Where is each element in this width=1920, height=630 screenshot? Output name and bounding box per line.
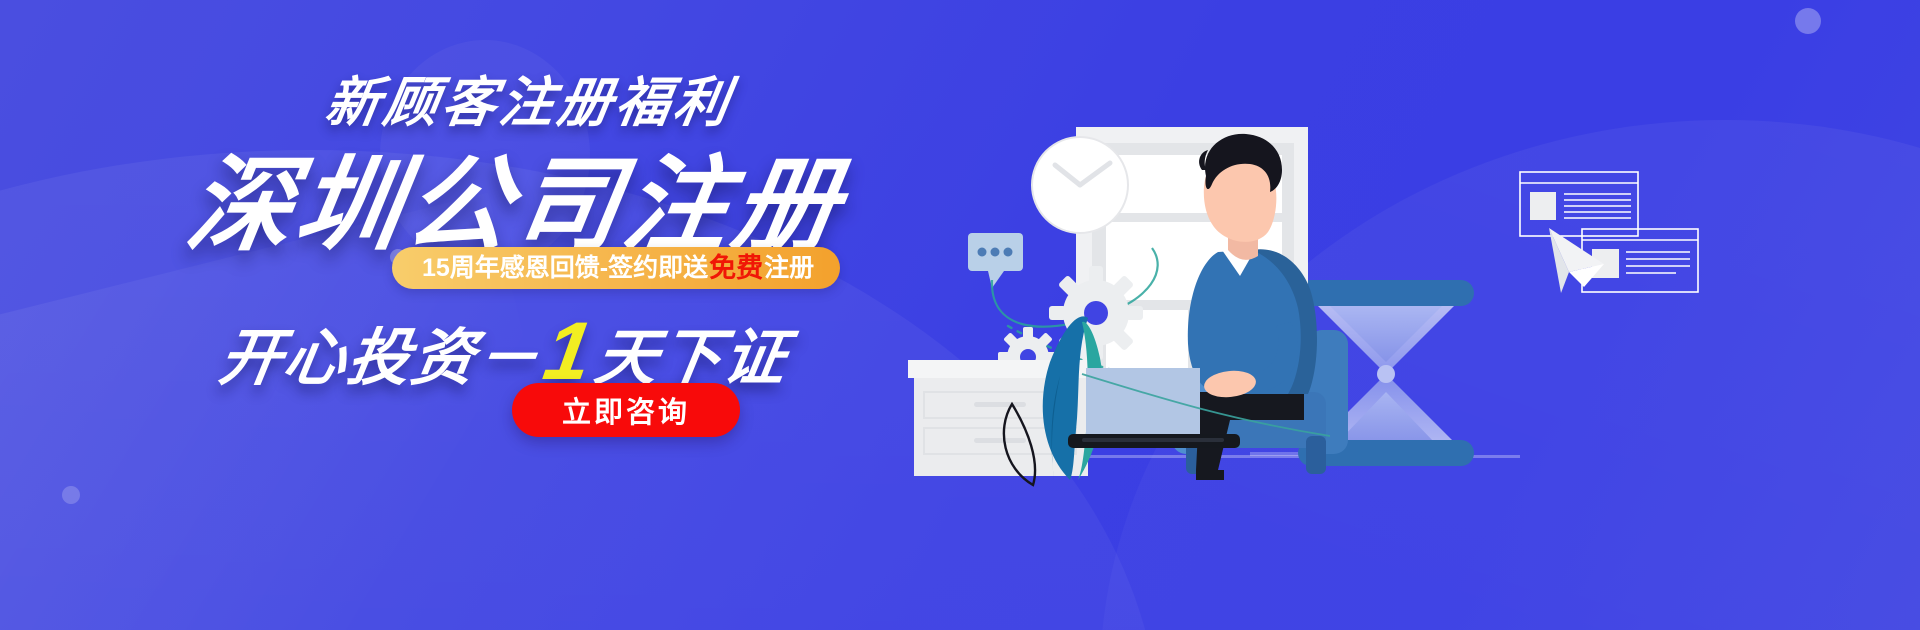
paper-plane-icon [1549, 228, 1604, 293]
promo-pill-suffix: 注册 [764, 256, 814, 281]
tagline-prefix: 开心投资－ [215, 324, 546, 393]
promo-pill-highlight: 免费 [708, 255, 764, 282]
chat-bubble-icon [968, 233, 1023, 288]
wall-clock-icon [1032, 137, 1128, 233]
browser-card-icon [1582, 229, 1698, 292]
promo-pill-prefix: 15周年感恩回馈-签约即送 [422, 256, 708, 281]
promo-banner: 新顾客注册福利 深圳公司注册 15周年感恩回馈-签约即送 免费 注册 开心投资－… [0, 0, 1920, 630]
browser-card-icon [1520, 172, 1638, 236]
consult-now-button[interactable]: 立即咨询 [512, 383, 740, 437]
promo-pill: 15周年感恩回馈-签约即送 免费 注册 [392, 247, 840, 289]
banner-tagline: 开心投资－1天下证 [0, 305, 1007, 399]
hourglass-cap-top [1298, 280, 1474, 306]
banner-copy: 新顾客注册福利 深圳公司注册 15周年感恩回馈-签约即送 免费 注册 开心投资－… [0, 0, 1000, 630]
office-illustration [900, 0, 1920, 630]
